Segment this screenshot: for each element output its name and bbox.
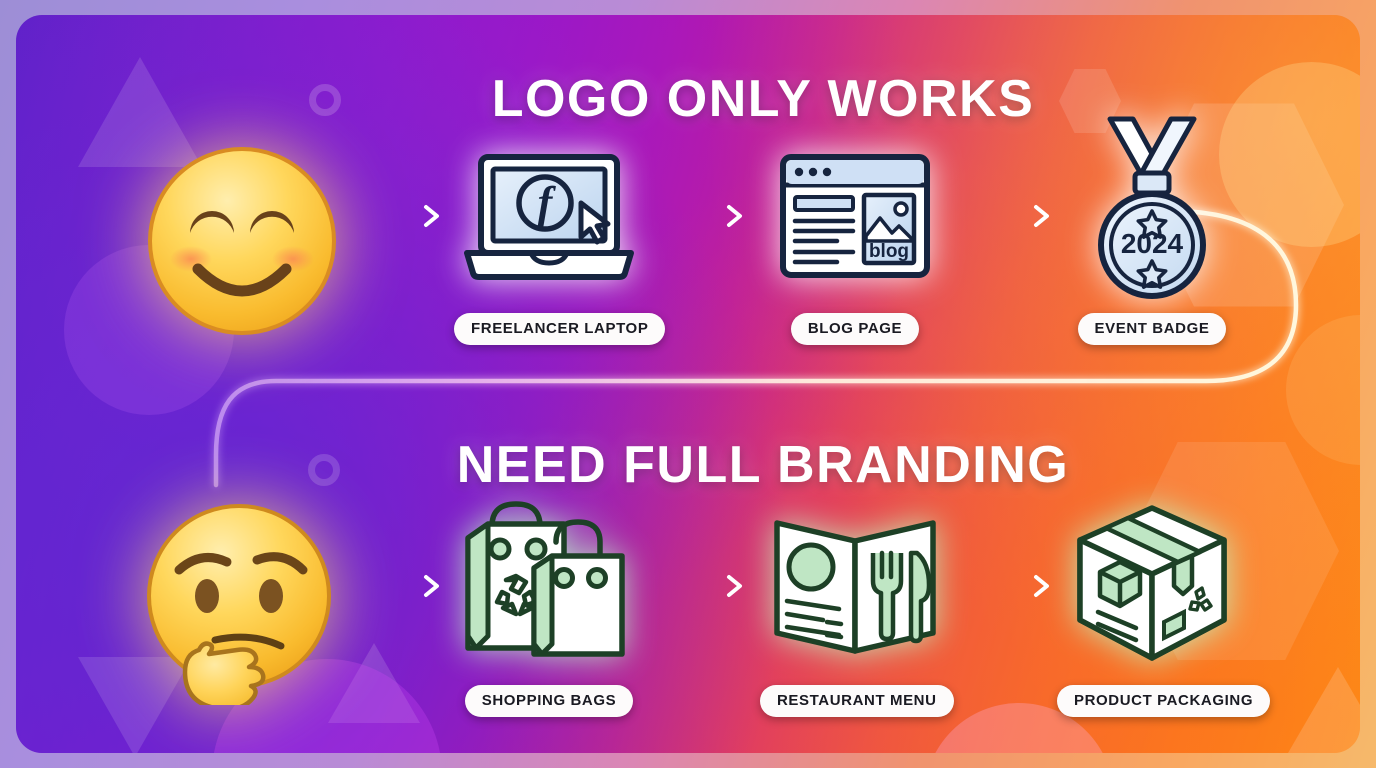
item-label-restaurant-menu: RESTAURANT MENU xyxy=(760,685,954,717)
row-logo-only-works: LOGO ONLY WORKS xyxy=(16,35,1360,365)
arrow-icon-3 xyxy=(976,203,1060,229)
item-label-event-badge: EVENT BADGE xyxy=(1078,313,1227,345)
restaurant-menu-icon xyxy=(760,493,950,673)
freelancer-laptop-icon: f xyxy=(454,131,644,301)
item-label-freelancer-laptop: FREELANCER LAPTOP xyxy=(454,313,665,345)
shopping-bags-icon xyxy=(454,493,644,673)
smiling-face-with-smiling-eyes-emoji xyxy=(134,133,349,348)
arrow-icon-5 xyxy=(669,573,753,599)
arrow-icon-1 xyxy=(366,203,450,229)
blog-image-caption: blog xyxy=(869,241,909,262)
infographic-frame: LOGO ONLY WORKS xyxy=(0,0,1376,768)
row-title-need-full-branding: NEED FULL BRANDING xyxy=(16,435,1360,495)
blog-page-icon: blog xyxy=(760,131,950,301)
arrow-icon-2 xyxy=(669,203,753,229)
infographic-card: LOGO ONLY WORKS xyxy=(16,15,1360,753)
badge-year-text: 2024 xyxy=(1121,228,1184,259)
arrow-icon-4 xyxy=(366,573,450,599)
item-product-packaging[interactable]: PRODUCT PACKAGING xyxy=(1057,493,1247,717)
item-blog-page[interactable]: blog BLOG PAGE xyxy=(760,131,950,345)
item-label-product-packaging: PRODUCT PACKAGING xyxy=(1057,685,1270,717)
item-freelancer-laptop[interactable]: f FREELANCER LAPTOP xyxy=(454,131,644,345)
arrow-icon-6 xyxy=(976,573,1060,599)
product-packaging-icon xyxy=(1057,493,1247,673)
event-badge-icon: 2024 xyxy=(1057,111,1247,301)
item-label-blog-page: BLOG PAGE xyxy=(791,313,919,345)
item-event-badge[interactable]: 2024 EVENT BADGE xyxy=(1057,111,1247,345)
row-need-full-branding: NEED FULL BRANDING xyxy=(16,405,1360,735)
item-shopping-bags[interactable]: SHOPPING BAGS xyxy=(454,493,644,717)
item-restaurant-menu[interactable]: RESTAURANT MENU xyxy=(760,493,950,717)
item-label-shopping-bags: SHOPPING BAGS xyxy=(465,685,634,717)
thinking-face-emoji xyxy=(134,495,349,710)
